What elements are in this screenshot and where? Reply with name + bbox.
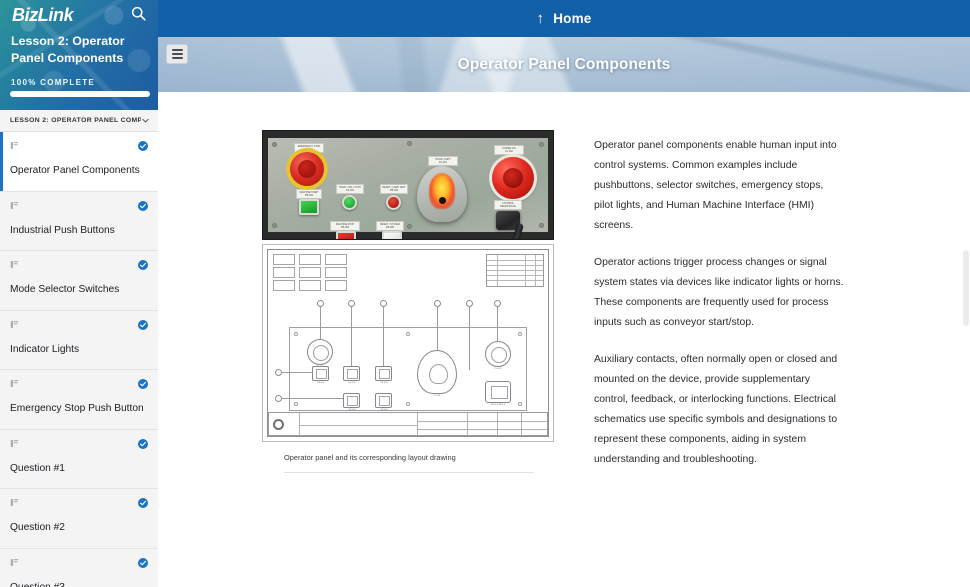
sidebar-item-question-2[interactable]: Question #2 — [0, 489, 158, 549]
sidebar-item-label: Question #3 — [10, 582, 148, 587]
paragraph: Auxiliary contacts, often normally open … — [594, 350, 844, 470]
nav-item-top-row — [10, 379, 148, 391]
panel-screw — [272, 142, 277, 147]
component-label: MACHINE STARTPB-002 — [296, 189, 322, 199]
article-icon — [10, 141, 19, 150]
panel-screw — [539, 223, 544, 228]
figure-column: EMERGENCY STOPPB-001 MACHINE STARTPB-002… — [262, 130, 562, 487]
article-icon — [10, 558, 19, 567]
sidebar-item-question-3[interactable]: Question #3 — [0, 549, 158, 587]
white-square-button — [382, 231, 402, 240]
nav-item-top-row — [10, 260, 148, 272]
red-indicator-light — [492, 157, 534, 199]
estop-symbol — [307, 339, 333, 365]
pushbutton-symbol — [343, 393, 360, 408]
emergency-stop-button — [290, 152, 324, 186]
callout-bubble — [275, 369, 282, 376]
brand-logo[interactable]: BizLink — [12, 5, 73, 26]
panel-screw — [539, 142, 544, 147]
nav-item-top-row — [10, 558, 148, 570]
beacon-symbol — [417, 350, 457, 394]
sidebar-item-label: Emergency Stop Push Button — [10, 403, 148, 416]
nav-item-top-row — [10, 498, 148, 510]
lesson-page: ↑ Home BizLink Lesson 2: Operator Panel … — [0, 0, 970, 587]
sidebar-section-header[interactable]: LESSON 2: OPERATOR PANEL COMPONENTS — [0, 110, 158, 132]
paragraph: Operator actions trigger process changes… — [594, 253, 844, 333]
home-button[interactable]: ↑ Home — [536, 11, 591, 26]
lesson-title: Lesson 2: Operator Panel Components — [11, 33, 150, 66]
component-label: CONTROLRECEPTACLE — [494, 200, 522, 210]
check-circle-icon — [138, 379, 148, 389]
menu-bar — [172, 57, 183, 59]
nav-item-top-row — [10, 201, 148, 213]
sidebar-nav-list: Operator Panel Components Industrial Pus… — [0, 132, 158, 587]
green-round-button — [342, 195, 357, 210]
article-icon — [10, 260, 19, 269]
component-label: RESET / LAMP TESTPB-003 — [380, 184, 408, 194]
parts-table — [486, 254, 544, 287]
check-circle-icon — [138, 498, 148, 508]
sidebar-item-label: Industrial Push Buttons — [10, 225, 148, 238]
sidebar-item-label: Mode Selector Switches — [10, 284, 148, 297]
check-circle-icon — [138, 439, 148, 449]
nav-item-top-row — [10, 439, 148, 451]
component-label: POWER ONPL-002 — [494, 145, 524, 155]
sidebar-item-operator-panel-components[interactable]: Operator Panel Components — [0, 132, 158, 192]
sidebar-item-label: Question #1 — [10, 463, 148, 476]
search-icon[interactable] — [130, 5, 147, 22]
symbol-tag: PL-002 — [485, 368, 511, 371]
page-title: Operator Panel Components — [458, 56, 671, 74]
hamburger-menu-icon[interactable] — [166, 44, 188, 64]
legend-box — [299, 267, 321, 278]
panel-screw — [272, 223, 277, 228]
symbol-tag: PB-003 — [371, 382, 397, 385]
legend-box — [325, 254, 347, 265]
green-square-button — [299, 199, 319, 215]
chevron-down-icon[interactable] — [141, 116, 150, 125]
sidebar-item-emergency-stop-push-button[interactable]: Emergency Stop Push Button — [0, 370, 158, 430]
caption-divider — [284, 472, 534, 473]
menu-bar — [172, 49, 183, 51]
symbol-tag: RECEPTACLE — [481, 404, 515, 407]
check-circle-icon — [138, 141, 148, 151]
article-icon — [10, 439, 19, 448]
top-bar: ↑ Home — [158, 0, 970, 37]
legend-box — [325, 280, 347, 291]
progress-bar-fill — [10, 91, 150, 97]
nav-item-top-row — [10, 141, 148, 153]
component-label: MACHINE STOPPB-004 — [330, 221, 360, 231]
sidebar-item-question-1[interactable]: Question #1 — [0, 430, 158, 490]
leader-line — [320, 307, 321, 339]
leader-line — [282, 372, 312, 373]
content-area: EMERGENCY STOPPB-001 MACHINE STARTPB-002… — [158, 92, 970, 587]
callout-bubble — [317, 300, 324, 307]
red-square-button — [336, 231, 356, 240]
legend-box — [325, 267, 347, 278]
symbol-tag: PL-001 — [417, 395, 457, 398]
article-icon — [10, 320, 19, 329]
pushbutton-symbol — [375, 366, 392, 381]
legend-box — [273, 254, 295, 265]
callout-bubble — [380, 300, 387, 307]
legend-box — [273, 267, 295, 278]
component-label: STACK LIGHTPL-001 — [428, 156, 458, 166]
sidebar-section-label: LESSON 2: OPERATOR PANEL COMPONENTS — [10, 117, 141, 124]
text-column: Operator panel components enable human i… — [594, 130, 844, 487]
beacon-center — [439, 197, 446, 204]
beacon-light — [417, 166, 467, 222]
sidebar: BizLink Lesson 2: Operator Panel Compone… — [0, 0, 158, 587]
leader-line — [469, 307, 470, 370]
symbol-tag: SS-001 — [339, 382, 365, 385]
pushbutton-symbol — [375, 393, 392, 408]
symbol-tag: PB-002 — [308, 382, 334, 385]
panel-screw — [407, 224, 412, 229]
sidebar-item-indicator-lights[interactable]: Indicator Lights — [0, 311, 158, 371]
callout-bubble — [434, 300, 441, 307]
progress-bar — [10, 91, 150, 97]
receptacle-symbol — [485, 381, 511, 403]
callout-bubble — [348, 300, 355, 307]
check-circle-icon — [138, 201, 148, 211]
callout-bubble — [466, 300, 473, 307]
check-circle-icon — [138, 320, 148, 330]
sidebar-item-mode-selector-switches[interactable]: Mode Selector Switches — [0, 251, 158, 311]
home-label: Home — [553, 11, 591, 26]
pushbutton-symbol — [343, 366, 360, 381]
component-label: HAND / OFF / AUTOSS-001 — [336, 184, 364, 194]
callout-bubble — [275, 395, 282, 402]
legend-box — [299, 254, 321, 265]
leader-line — [383, 307, 384, 367]
legend-box — [299, 280, 321, 291]
check-circle-icon — [138, 558, 148, 568]
red-round-button — [386, 195, 401, 210]
figure-caption: Operator panel and its corresponding lay… — [284, 453, 552, 463]
up-arrow-icon: ↑ — [536, 11, 544, 26]
article-icon — [10, 498, 19, 507]
scrollbar-track[interactable] — [962, 92, 970, 587]
indicator-light-symbol — [485, 341, 511, 367]
leader-line — [351, 307, 352, 367]
paragraph: Operator panel components enable human i… — [594, 136, 844, 236]
operator-panel-photo: EMERGENCY STOPPB-001 MACHINE STARTPB-002… — [262, 130, 554, 240]
callout-bubble — [494, 300, 501, 307]
component-label: RESET / SYSTEMPB-005 — [376, 221, 404, 231]
nav-item-top-row — [10, 320, 148, 332]
sidebar-item-label: Operator Panel Components — [10, 165, 148, 178]
drawing-title-block — [268, 412, 548, 436]
menu-bar — [172, 53, 183, 55]
scrollbar-thumb[interactable] — [963, 250, 969, 326]
leader-line — [497, 307, 498, 341]
leader-line — [282, 398, 345, 399]
panel-layout-drawing: PB-001 PB-002 SS-001 PB-003 PB-004 PB-00… — [262, 244, 554, 442]
drawing-logo-icon — [273, 419, 284, 430]
sidebar-item-label: Indicator Lights — [10, 344, 148, 357]
article-icon — [10, 201, 19, 210]
check-circle-icon — [138, 260, 148, 270]
progress-label: 100% COMPLETE — [11, 78, 95, 87]
legend-box — [273, 280, 295, 291]
leader-line — [437, 307, 438, 350]
page-banner: Operator Panel Components — [158, 37, 970, 92]
pushbutton-symbol — [312, 366, 329, 381]
panel-screw — [407, 141, 412, 146]
sidebar-header: BizLink Lesson 2: Operator Panel Compone… — [0, 0, 158, 110]
sidebar-item-label: Question #2 — [10, 522, 148, 535]
panel-face: EMERGENCY STOPPB-001 MACHINE STARTPB-002… — [268, 138, 548, 232]
sidebar-item-industrial-push-buttons[interactable]: Industrial Push Buttons — [0, 192, 158, 252]
article-icon — [10, 379, 19, 388]
